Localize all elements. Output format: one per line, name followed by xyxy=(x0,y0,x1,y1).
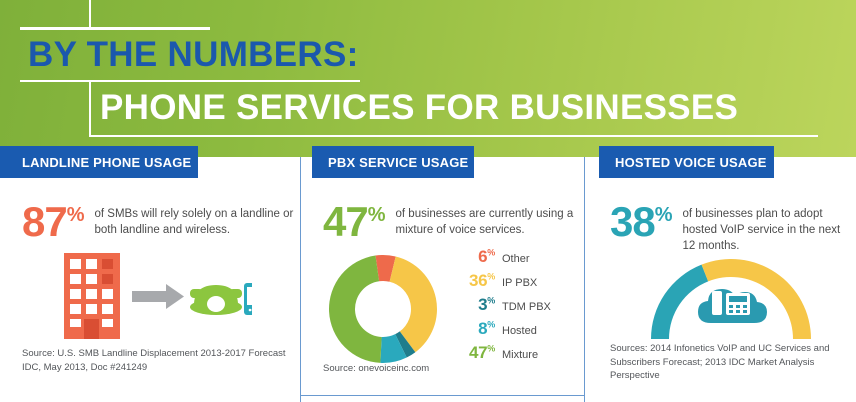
percent-symbol-hosted: % xyxy=(655,204,673,226)
header-rule-vertical-lower xyxy=(89,80,91,137)
legend-item-other: 6% Other xyxy=(453,247,578,270)
stat-block-landline: 87% of SMBs will rely solely on a landli… xyxy=(22,203,300,241)
panel-banner-landline: LANDLINE PHONE USAGE xyxy=(0,146,198,178)
stat-number-landline: 87 xyxy=(22,198,67,245)
page-title-line-1: BY THE NUMBERS: xyxy=(28,33,359,77)
percent-symbol-landline: % xyxy=(67,204,85,226)
panel-landline-phone-usage: LANDLINE PHONE USAGE 87% of SMBs will re… xyxy=(0,157,300,402)
donut-legend-pbx: 6% Other 36% IP PBX 3% TDM PBX 8% Hosted… xyxy=(453,247,578,367)
header-rule-vertical-upper xyxy=(89,0,91,29)
arrow-right-icon xyxy=(132,284,184,309)
page-title-line-2: PHONE SERVICES FOR BUSINESSES xyxy=(100,83,738,133)
stat-block-hosted: 38% of businesses plan to adopt hosted V… xyxy=(610,203,856,254)
header-banner: BY THE NUMBERS: PHONE SERVICES FOR BUSIN… xyxy=(0,0,856,157)
legend-item-hosted: 8% Hosted xyxy=(453,319,578,342)
legend-label-hosted: Hosted xyxy=(502,325,537,337)
legend-percent-tdm-pbx: 3% xyxy=(453,295,495,315)
stat-block-pbx: 47% of businesses are currently using a … xyxy=(323,203,584,241)
desk-phone-icon xyxy=(190,285,242,315)
stat-value-pbx: 47% xyxy=(323,203,386,241)
stat-value-hosted: 38% xyxy=(610,203,673,241)
legend-label-other: Other xyxy=(502,253,530,265)
stat-description-hosted: of businesses plan to adopt hosted VoIP … xyxy=(683,206,856,254)
building-to-phone-illustration xyxy=(62,253,252,339)
panel-banner-label-pbx: PBX SERVICE USAGE xyxy=(328,155,468,170)
legend-percent-ip-pbx: 36% xyxy=(453,271,495,291)
donut-chart-pbx xyxy=(327,253,439,365)
panel-banner-label-landline: LANDLINE PHONE USAGE xyxy=(22,155,191,170)
legend-percent-hosted: 8% xyxy=(453,319,495,339)
percent-symbol-pbx: % xyxy=(368,204,386,226)
panel-banner-hosted: HOSTED VOICE USAGE xyxy=(599,146,774,178)
legend-label-ip-pbx: IP PBX xyxy=(502,277,537,289)
legend-percent-mixture: 47% xyxy=(453,343,495,363)
gauge-chart-hosted xyxy=(647,251,815,343)
source-text-pbx: Source: onevoiceinc.com xyxy=(323,362,429,376)
header-rule-bottom xyxy=(89,135,818,137)
stat-value-landline: 87% xyxy=(22,203,85,241)
stat-number-pbx: 47 xyxy=(323,198,368,245)
mobile-phone-icon xyxy=(244,283,252,315)
source-text-hosted: Sources: 2014 Infonetics VoIP and UC Ser… xyxy=(610,342,856,383)
gauge-arc-0 xyxy=(651,265,708,339)
legend-item-ip-pbx: 36% IP PBX xyxy=(453,271,578,294)
panel-pbx-service-usage: PBX SERVICE USAGE 47% of businesses are … xyxy=(300,157,585,402)
panel-hosted-voice-usage: HOSTED VOICE USAGE 38% of businesses pla… xyxy=(585,157,856,402)
donut-slice-mixture xyxy=(329,256,382,363)
legend-label-tdm-pbx: TDM PBX xyxy=(502,301,551,313)
infographic-root: BY THE NUMBERS: PHONE SERVICES FOR BUSIN… xyxy=(0,0,856,402)
source-text-landline: Source: U.S. SMB Landline Displacement 2… xyxy=(22,347,300,374)
stat-description-landline: of SMBs will rely solely on a landline o… xyxy=(95,206,300,238)
legend-percent-other: 6% xyxy=(453,247,495,267)
legend-item-mixture: 47% Mixture xyxy=(453,343,578,366)
header-rule-top xyxy=(20,27,210,30)
panel-bottom-rule-pbx xyxy=(301,395,584,397)
panel-banner-pbx: PBX SERVICE USAGE xyxy=(312,146,474,178)
cloud-phone-icon xyxy=(698,289,767,323)
stat-description-pbx: of businesses are currently using a mixt… xyxy=(396,206,584,238)
header-rule-middle xyxy=(20,80,360,82)
legend-item-tdm-pbx: 3% TDM PBX xyxy=(453,295,578,318)
legend-label-mixture: Mixture xyxy=(502,349,538,361)
stat-number-hosted: 38 xyxy=(610,198,655,245)
office-building-icon xyxy=(64,253,120,339)
panel-banner-label-hosted: HOSTED VOICE USAGE xyxy=(615,155,767,170)
